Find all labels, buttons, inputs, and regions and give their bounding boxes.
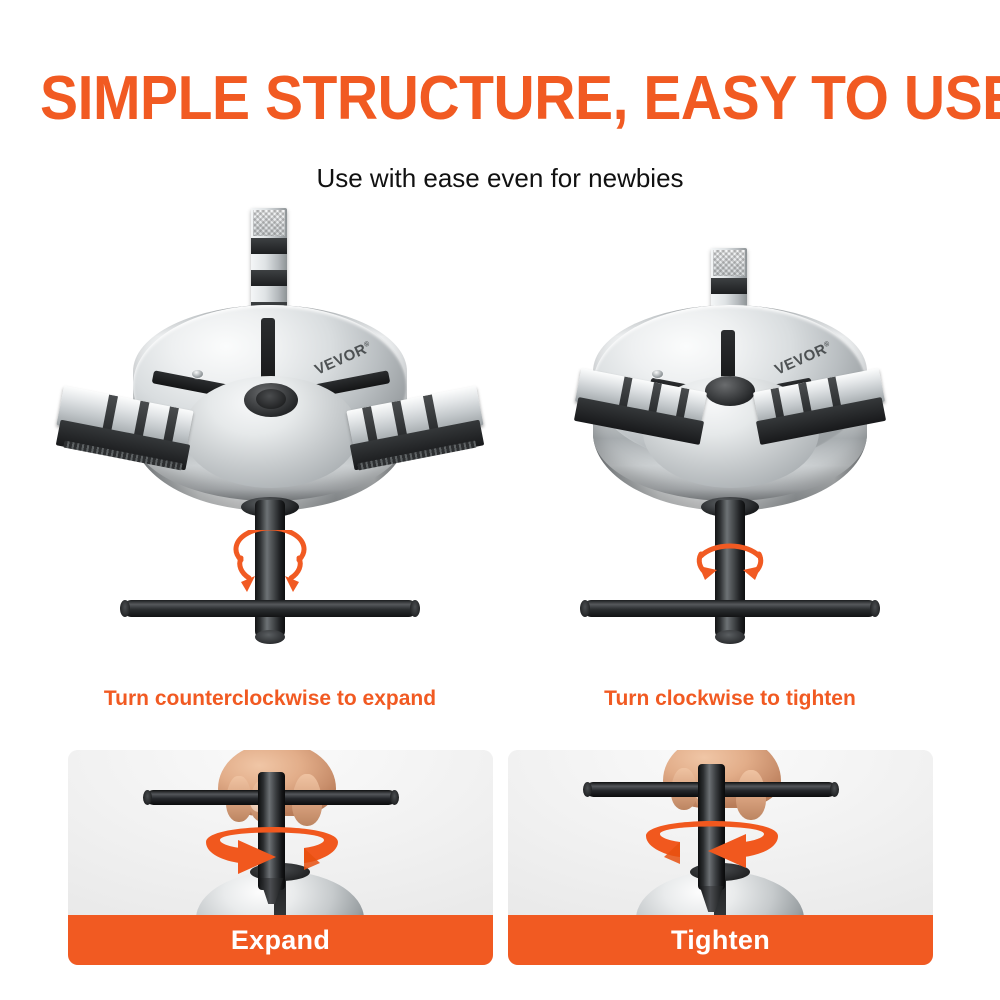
chuck-hub-bore	[256, 389, 286, 409]
jaw-knurl-texture	[713, 250, 745, 276]
chuck-key-tip	[255, 630, 285, 644]
chuck-hub	[705, 376, 755, 406]
page-subtitle: Use with ease even for newbies	[0, 163, 1000, 193]
chuck-key-tip	[715, 630, 745, 644]
chuck-key-shaft	[255, 500, 285, 640]
chuck-figure-expand: VEVOR®	[55, 200, 485, 670]
card-expand[interactable]: Expand	[68, 750, 493, 965]
chuck-illustration-closed: VEVOR®	[515, 200, 945, 670]
chuck-figure-tighten: VEVOR®	[515, 200, 945, 670]
caption-tighten: Turn clockwise to tighten	[510, 686, 950, 712]
chuck-index-dimple	[192, 370, 203, 378]
page-title: SIMPLE STRUCTURE, EASY TO USE	[40, 68, 960, 130]
rotation-arrow-cw-icon	[624, 802, 800, 898]
card-tighten-photo	[508, 750, 933, 915]
chuck-index-dimple	[652, 370, 663, 378]
jaw-step-band	[251, 238, 287, 254]
card-tighten-label: Tighten	[671, 925, 770, 956]
chuck-key-handle-bar	[123, 600, 417, 617]
chuck-key-shaft	[715, 500, 745, 640]
chuck-illustration-expanded: VEVOR®	[55, 200, 485, 670]
jaw-knurl-texture	[253, 210, 285, 236]
card-expand-label: Expand	[231, 925, 330, 956]
card-expand-photo	[68, 750, 493, 915]
caption-expand: Turn counterclockwise to expand	[50, 686, 490, 712]
rotation-arrow-ccw-icon	[184, 808, 360, 904]
card-tighten[interactable]: Tighten	[508, 750, 933, 965]
chuck-key-handle-bar	[583, 600, 877, 617]
card-expand-label-bar: Expand	[68, 915, 493, 965]
jaw-step-band	[711, 278, 747, 294]
card-tighten-label-bar: Tighten	[508, 915, 933, 965]
jaw-step-band	[251, 270, 287, 286]
